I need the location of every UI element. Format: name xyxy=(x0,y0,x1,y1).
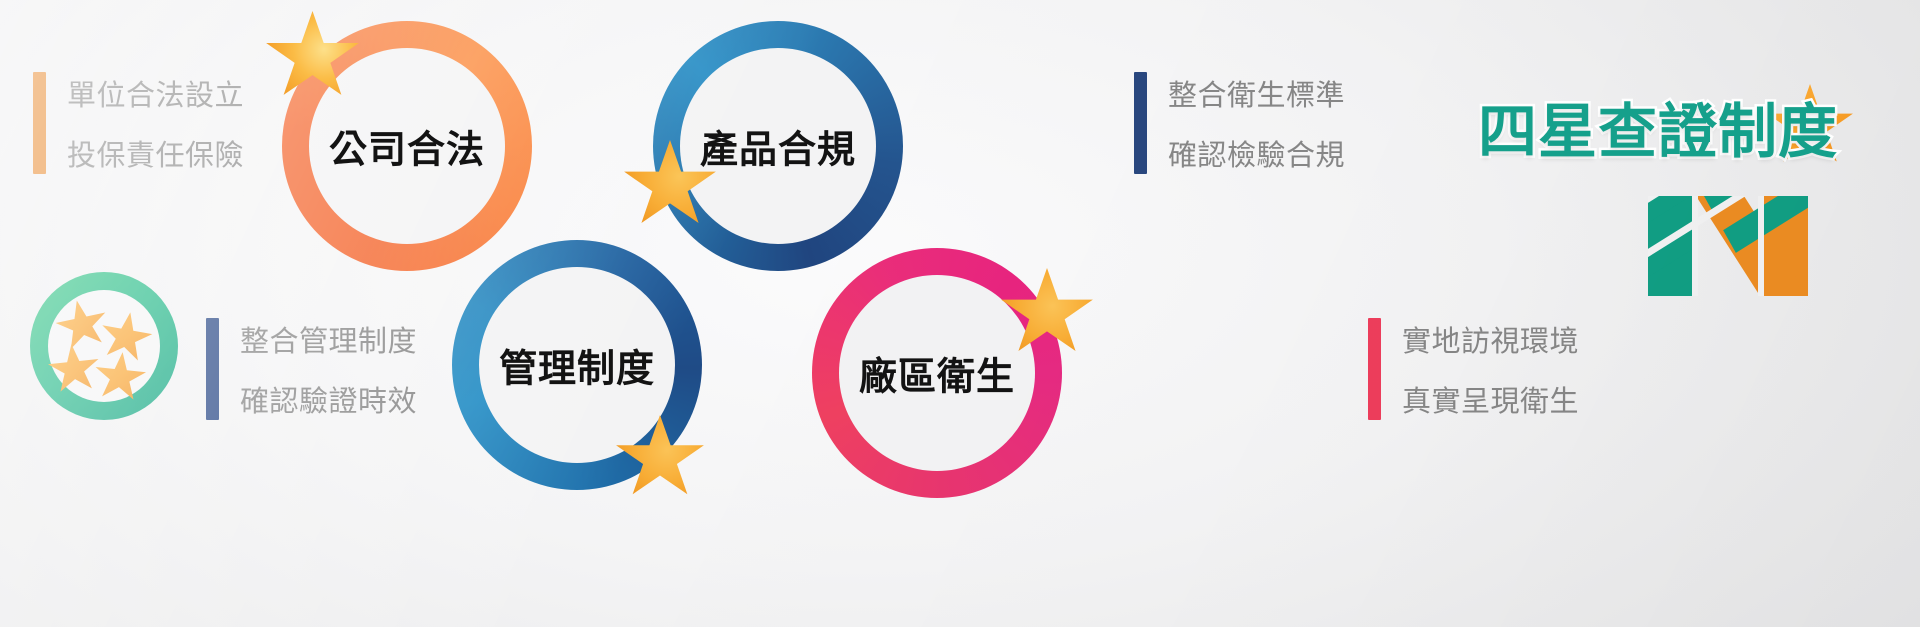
pillar-ring-product-compliance[interactable]: 產品合規 xyxy=(653,21,903,271)
headline-group: 四星查證制度 xyxy=(1478,102,1878,192)
note-line: 整合衛生標準 xyxy=(1168,72,1345,114)
pillar-label: 廠區衛生 xyxy=(859,346,1015,401)
note-line: 真實呈現衛生 xyxy=(1402,378,1579,420)
note-line: 單位合法設立 xyxy=(67,72,244,114)
text-block-plant-hygiene: 實地訪視環境 真實呈現衛生 xyxy=(1368,318,1579,420)
note-line: 整合管理制度 xyxy=(240,318,417,360)
note-line: 實地訪視環境 xyxy=(1402,318,1579,360)
n-mark-logo-svg xyxy=(1648,196,1808,296)
infographic-canvas: 單位合法設立 投保責任保險 公司合法 產品合規 整合衛生標準 確認檢驗合規 四星… xyxy=(0,0,1920,627)
note-line: 投保責任保險 xyxy=(67,132,244,174)
note-line: 確認驗證時效 xyxy=(240,378,417,420)
text-block-product-compliance: 整合衛生標準 確認檢驗合規 xyxy=(1134,72,1345,174)
accent-bar-navy xyxy=(206,318,219,420)
accent-bar-orange xyxy=(33,72,46,174)
n-mark-logo xyxy=(1648,196,1808,296)
note-line: 確認檢驗合規 xyxy=(1168,132,1345,174)
pillar-label: 管理制度 xyxy=(499,338,655,393)
pillar-label: 產品合規 xyxy=(700,119,856,174)
text-block-management-system: 整合管理制度 確認驗證時效 xyxy=(206,318,417,420)
pillar-label: 公司合法 xyxy=(329,119,485,174)
accent-bar-red xyxy=(1368,318,1381,420)
accent-bar-navy xyxy=(1134,72,1147,174)
text-block-company-legal: 單位合法設立 投保責任保險 xyxy=(33,72,244,174)
four-star-badge xyxy=(30,272,178,420)
page-title: 四星查證制度 xyxy=(1478,102,1878,161)
pillar-ring-plant-hygiene[interactable]: 廠區衛生 xyxy=(812,248,1062,498)
